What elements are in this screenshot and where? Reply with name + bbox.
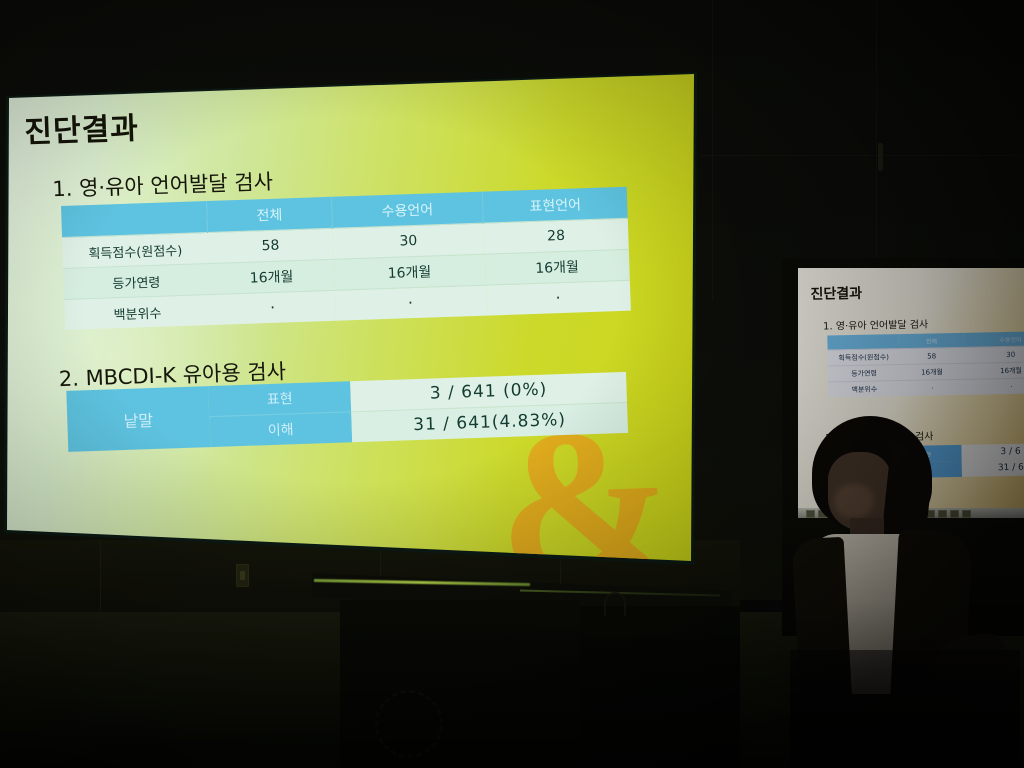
mon-cell-age-receptive: 16개월 <box>964 362 1024 380</box>
row-label-raw-score: 획득점수(원점수) <box>62 233 208 269</box>
projection-screen: & 진단결과 1. 영·유아 언어발달 검사 전체 수용언어 표현언어 <box>0 60 700 580</box>
col-header-total: 전체 <box>206 197 332 233</box>
mon-col-blank <box>827 334 899 350</box>
cell-pct-expressive: · <box>485 280 630 315</box>
mon-cell-raw-total: 58 <box>900 347 964 364</box>
cell-age-receptive: 16개월 <box>333 254 485 290</box>
language-development-table: 전체 수용언어 표현언어 획득점수(원점수) 58 30 28 <box>61 187 631 330</box>
row-label-percentile: 백분위수 <box>64 295 210 330</box>
mon-cell-pct-receptive: · <box>964 378 1024 395</box>
cell-raw-receptive: 30 <box>332 223 484 259</box>
table-row: 백분위수 · · <box>828 378 1024 398</box>
mon-row-equiv-age: 등가연령 <box>828 365 900 382</box>
monitor-slide-title: 진단결과 <box>810 283 862 304</box>
lectern-body <box>340 600 580 768</box>
microphone-icon <box>604 592 626 616</box>
cell-raw-expressive: 28 <box>483 218 628 254</box>
cell-pct-total: · <box>210 290 336 325</box>
lectern-side <box>580 606 740 768</box>
mon-col-total: 전체 <box>899 333 963 349</box>
person-shadow <box>790 650 1020 768</box>
slide-title: 진단결과 <box>24 103 140 151</box>
mon-row-percentile: 백분위수 <box>828 381 900 398</box>
projected-slide: & 진단결과 1. 영·유아 언어발달 검사 전체 수용언어 표현언어 <box>0 60 700 580</box>
cell-age-expressive: 16개월 <box>484 249 629 285</box>
row-label-word: 낱말 <box>66 386 210 452</box>
wall-seam <box>700 155 1024 156</box>
section-1-heading: 1. 영·유아 언어발달 검사 <box>52 166 274 203</box>
mon-row-raw-score: 획득점수(원점수) <box>828 349 900 366</box>
mon-cell-raw-receptive: 30 <box>964 346 1024 364</box>
col-header-expressive: 표현언어 <box>482 187 627 223</box>
seated-presenter <box>790 400 1020 768</box>
cell-age-total: 16개월 <box>209 259 335 294</box>
row-label-comprehension: 이해 <box>209 412 352 447</box>
person-face-highlight <box>834 484 874 518</box>
cell-raw-total: 58 <box>207 228 333 263</box>
lectern-emblem <box>375 690 443 758</box>
row-label-expression: 표현 <box>208 381 351 416</box>
mon-col-receptive: 수용언어 <box>963 331 1024 347</box>
wall-seam <box>876 0 877 258</box>
wall-seam <box>712 0 713 300</box>
wall-bracket <box>878 143 883 171</box>
monitor-table-1: 전체 수용언어 획득점수(원점수) 58 30 등가연령 16개월 16개월 <box>827 331 1024 397</box>
mon-cell-pct-total: · <box>900 379 964 396</box>
cell-pct-receptive: · <box>335 285 487 321</box>
screenshot-stage: & 진단결과 1. 영·유아 언어발달 검사 전체 수용언어 표현언어 <box>0 0 1024 768</box>
row-label-equiv-age: 등가연령 <box>63 264 209 300</box>
mon-cell-age-total: 16개월 <box>900 363 964 380</box>
monitor-section-1-heading: 1. 영·유아 언어발달 검사 <box>823 316 928 333</box>
col-header-blank <box>61 201 207 237</box>
col-header-receptive: 수용언어 <box>331 192 483 229</box>
